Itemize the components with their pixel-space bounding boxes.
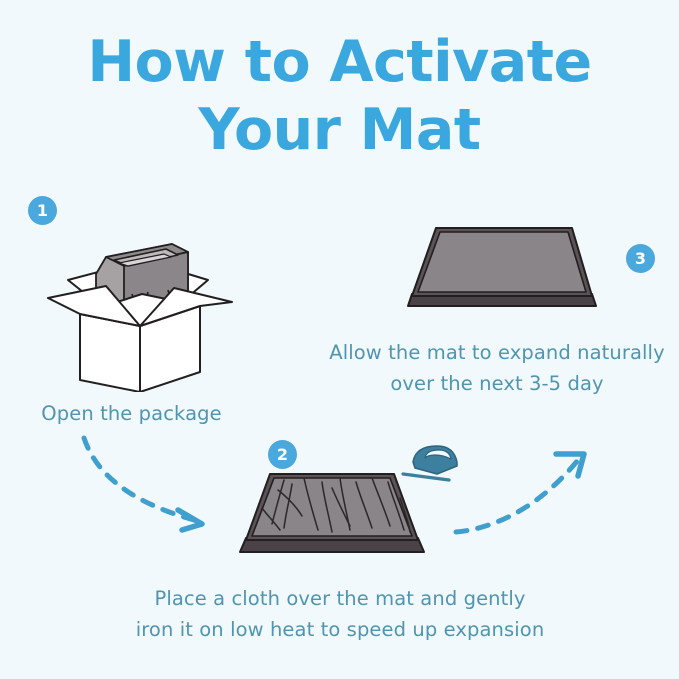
step-badge-3: 3: [626, 244, 655, 273]
expanded-flat-mat-illustration: [392, 220, 612, 330]
step-2-caption-line-2: iron it on low heat to speed up expansio…: [95, 614, 585, 645]
page-title: How to Activate Your Mat: [0, 28, 679, 164]
step-1-caption-text: Open the package: [41, 402, 221, 425]
step-badge-1: 1: [28, 196, 57, 225]
step-badge-2: 2: [268, 440, 297, 469]
title-line-1: How to Activate: [87, 29, 591, 95]
arrow-right-head: [556, 454, 584, 476]
step-1-caption: Open the package: [0, 398, 263, 429]
arrow-right-path: [456, 460, 578, 532]
dashed-arrow-step1-to-step2: [78, 432, 228, 542]
arrow-left-head: [178, 510, 202, 530]
mat-top-surface: [418, 232, 586, 292]
step-2-caption: Place a cloth over the mat and gently ir…: [95, 583, 585, 645]
open-cardboard-box-illustration: [40, 222, 240, 392]
iron-soleplate: [403, 474, 449, 480]
step-3-caption: Allow the mat to expand naturally over t…: [313, 337, 679, 399]
infographic-canvas: How to Activate Your Mat 1: [0, 0, 679, 679]
title-line-2: Your Mat: [0, 96, 679, 164]
step-2-caption-line-1: Place a cloth over the mat and gently: [95, 583, 585, 614]
step-3-caption-line-1: Allow the mat to expand naturally: [313, 337, 679, 368]
step-3-caption-line-2: over the next 3-5 day: [313, 368, 679, 399]
box-side-left: [80, 314, 140, 392]
dashed-arrow-step2-to-step3: [452, 446, 602, 546]
